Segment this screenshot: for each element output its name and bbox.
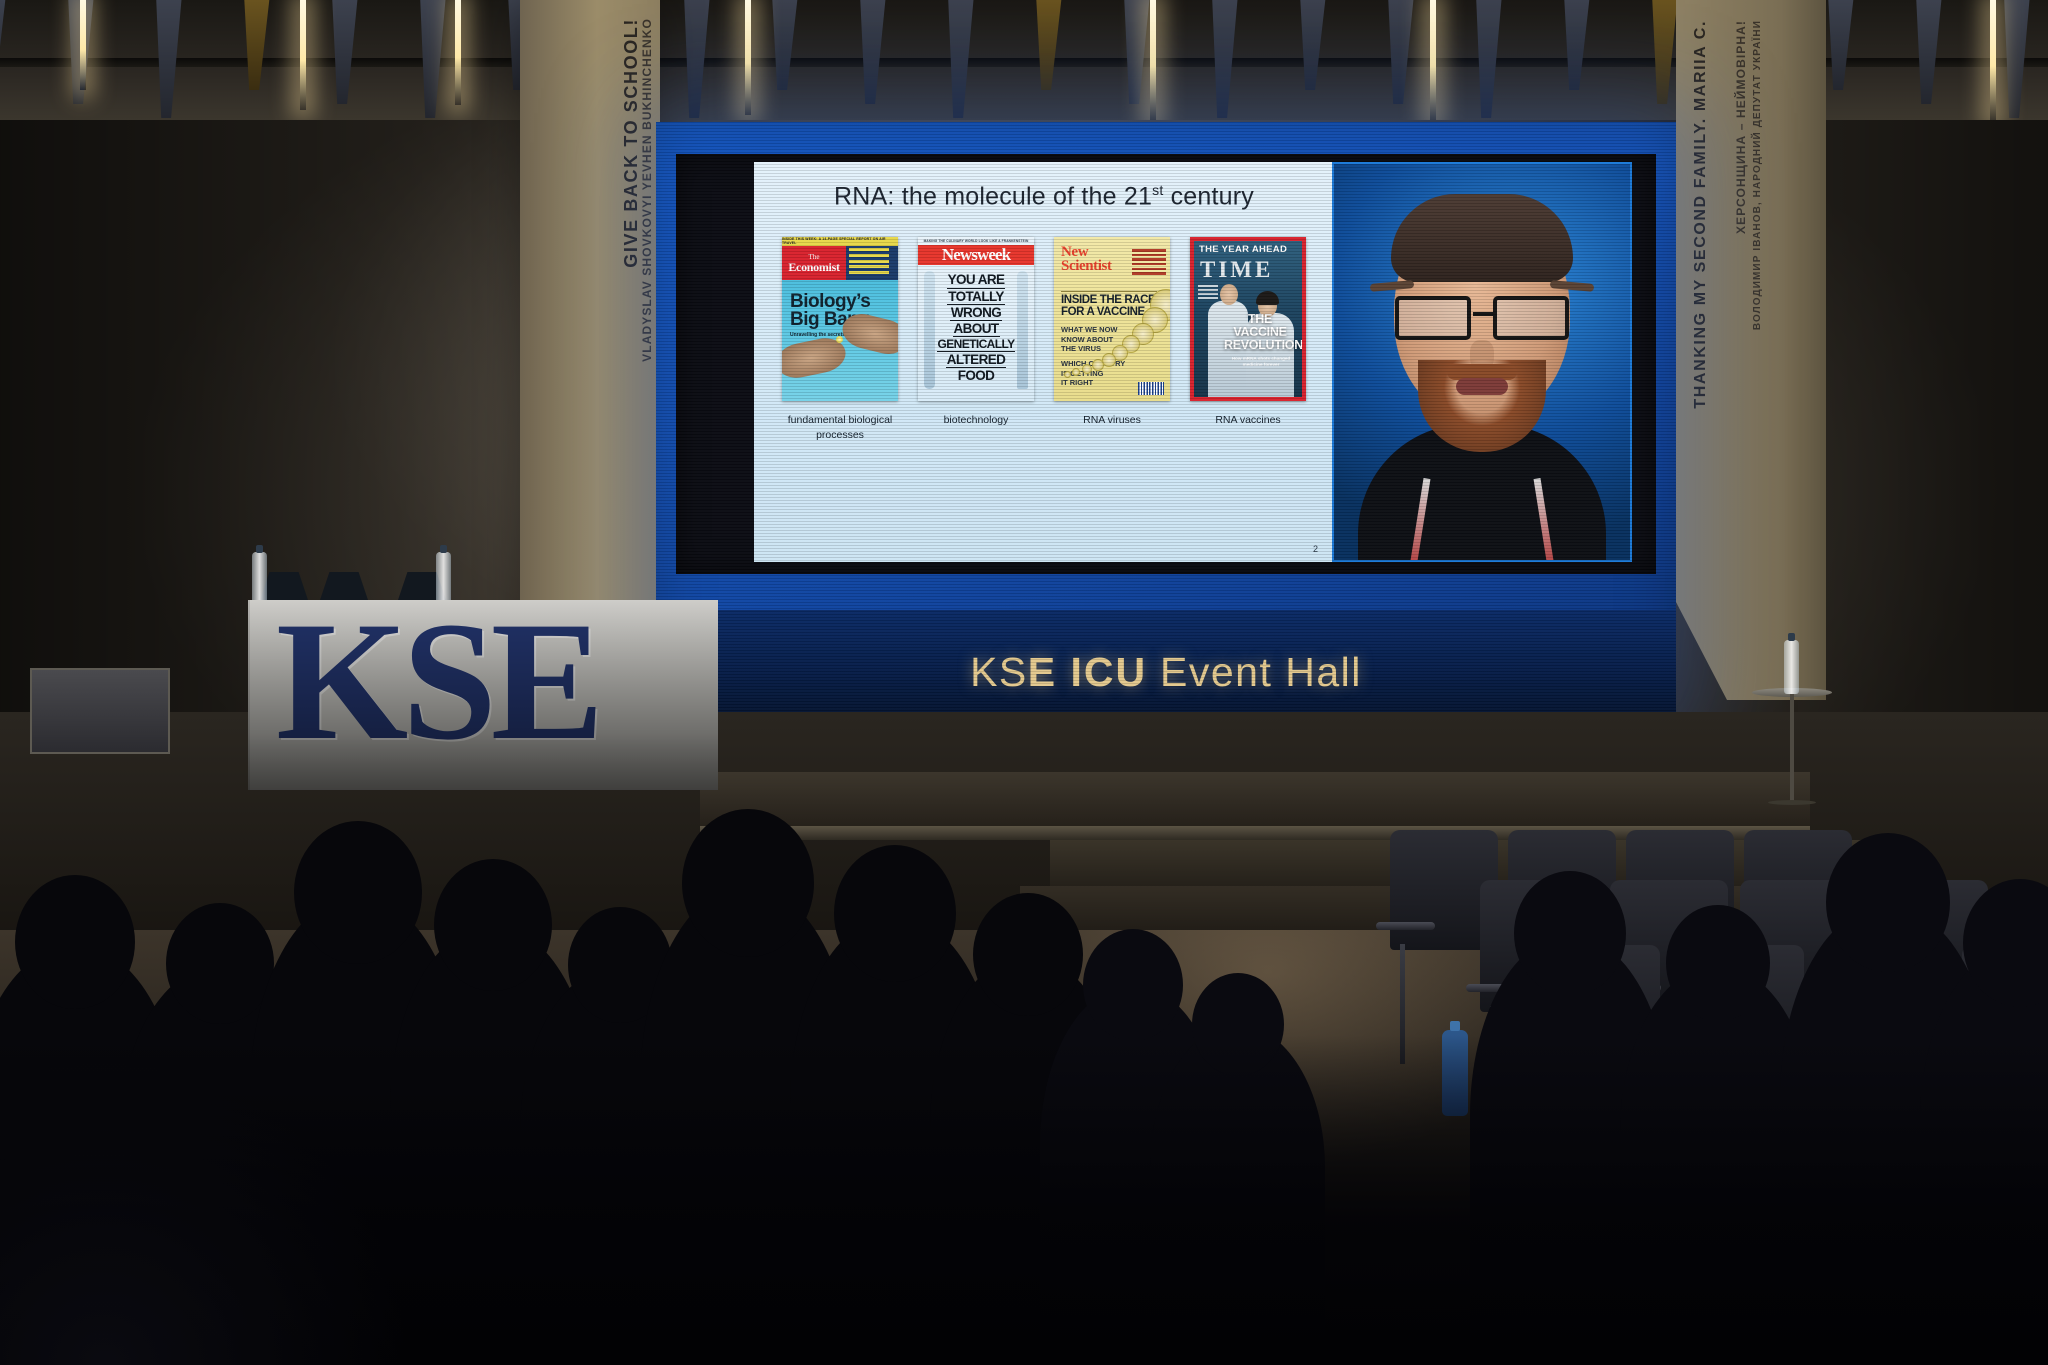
newsweek-headline-line: TOTALLY — [947, 290, 1005, 305]
audience-member-head — [973, 893, 1083, 1016]
hair-icon — [1391, 194, 1573, 282]
glasses-bridge — [1473, 312, 1493, 316]
economist-logo-name: Economist — [788, 261, 839, 273]
newsweek-kicker: MAKING THE CULINARY WORLD LOOK LIKE A FR… — [918, 237, 1034, 245]
chair-armrest — [1376, 922, 1435, 930]
ceiling-light-strip — [745, 0, 751, 115]
led-lower-band: KSE ICU Event Hall — [656, 610, 1676, 722]
economist-spark-icon — [836, 336, 843, 343]
audience-member-head — [682, 809, 814, 957]
time-teaser-list — [1198, 285, 1218, 301]
barcode-icon — [1138, 382, 1164, 395]
new-scientist-deck-line: KNOW ABOUT — [1061, 335, 1125, 344]
magazine-cover-newsweek: MAKING THE CULINARY WORLD LOOK LIKE A FR… — [918, 237, 1034, 401]
cover-caption: biotechnology — [918, 413, 1034, 441]
newsweek-headline-line: YOU ARE — [947, 273, 1006, 288]
foreground-darkness-left — [0, 845, 520, 1365]
water-bottle-side-table — [1784, 640, 1799, 694]
ceiling-baffle — [1828, 0, 1854, 90]
eyeglasses-icon — [1391, 296, 1573, 342]
hall-sign-bold: E ICU — [1028, 649, 1147, 695]
lecture-hall-scene: GIVE BACK TO SCHOOL! VLADYSLAV SHOVKOVYI… — [0, 0, 2048, 1365]
presentation-content-frame: RNA: the molecule of the 21st century IN… — [676, 154, 1656, 574]
wall-mirror-panel — [30, 668, 170, 754]
magazine-cover-row: INSIDE THIS WEEK: A 14-PAGE SPECIAL REPO… — [754, 211, 1334, 401]
new-scientist-headline: INSIDE THE RACEFOR A VACCINE — [1061, 295, 1155, 318]
led-video-wall[interactable]: RNA: the molecule of the 21st century IN… — [656, 122, 1676, 722]
wall-text-right-line1: THANKING MY SECOND FAMILY. MARIIA C. — [1692, 20, 1710, 409]
ceiling-light-strip — [1430, 0, 1436, 120]
magazine-cover-economist: INSIDE THIS WEEK: A 14-PAGE SPECIAL REPO… — [782, 237, 898, 401]
ceiling-baffle — [1388, 0, 1414, 104]
magazine-cover-time: THE YEAR AHEAD TIME THEVACCINEREVOLUTION… — [1190, 237, 1306, 401]
side-table-stem — [1790, 694, 1794, 804]
wall-text-left-line1: GIVE BACK TO SCHOOL! — [621, 18, 642, 268]
ceiling-baffle — [1916, 0, 1942, 104]
ceiling-light-strip — [1990, 0, 1996, 120]
scientist-hair-icon — [1256, 291, 1279, 305]
slide-title-tail: century — [1163, 182, 1254, 210]
wall-text-right-line2: ХЕРСОНЩИНА – НЕЙМОВІРНА! — [1734, 20, 1748, 234]
time-subhead: How mRNA shots changed medicine forever — [1228, 356, 1294, 370]
newsweek-logo: Newsweek — [918, 245, 1034, 265]
ceiling-light-strip — [455, 0, 461, 105]
water-bottle-podium-left — [252, 552, 267, 606]
kse-podium: KSE — [248, 600, 718, 790]
cover-caption: RNA vaccines — [1190, 413, 1306, 441]
ceiling-baffle — [1124, 0, 1150, 104]
new-scientist-logo-line2: Scientist — [1061, 258, 1112, 274]
ceiling-baffle — [0, 0, 6, 90]
video-call-feed[interactable] — [1332, 162, 1632, 562]
new-scientist-deck-line: IT RIGHT — [1061, 378, 1125, 387]
audience-member-head — [1826, 833, 1950, 972]
audience-member-head — [1666, 905, 1770, 1021]
economist-teaser-list — [846, 246, 898, 280]
water-bottle-podium-right — [436, 552, 451, 606]
magazine-cover-new-scientist: New Scientist INSIDE THE RACEFOR A VACCI… — [1054, 237, 1170, 401]
time-kicker: THE YEAR AHEAD — [1199, 245, 1297, 255]
presentation-slide: RNA: the molecule of the 21st century IN… — [754, 162, 1334, 562]
wall-text-left-line2: VLADYSLAV SHOVKOVYI YEVHEN BUKHINCHENKO — [640, 18, 654, 362]
ceiling-baffle — [772, 0, 798, 90]
newsweek-headline-line: GENETICALLY — [937, 338, 1016, 352]
new-scientist-teaser-list — [1132, 249, 1166, 276]
ceiling-baffle — [1652, 0, 1678, 104]
ceiling-baffle — [332, 0, 358, 104]
ceiling-light-strip — [80, 0, 86, 90]
ceiling-baffle — [1564, 0, 1590, 90]
new-scientist-deck-line: WHAT WE NOW — [1061, 325, 1125, 334]
slide-title-ordinal: st — [1152, 182, 1163, 198]
side-table-base — [1768, 800, 1816, 805]
hall-sign-suffix: Event Hall — [1147, 649, 1362, 695]
cover-caption-row: fundamental biological processesbiotechn… — [754, 401, 1334, 441]
wall-panel-left: GIVE BACK TO SCHOOL! VLADYSLAV SHOVKOVYI… — [520, 0, 660, 640]
wall-panel-right: THANKING MY SECOND FAMILY. MARIIA C. ХЕР… — [1676, 0, 1826, 700]
economist-logo: The Economist — [782, 246, 846, 280]
time-logo: TIME — [1200, 258, 1273, 281]
cover-caption: RNA viruses — [1054, 413, 1170, 441]
hall-name-sign: KSE ICU Event Hall — [656, 649, 1676, 696]
collar-right — [1534, 478, 1556, 562]
slide-title: RNA: the molecule of the 21st century — [754, 182, 1334, 211]
audience-member-head — [1514, 871, 1626, 996]
audience-member-head — [1083, 929, 1183, 1041]
newsweek-headline-line: ABOUT — [953, 322, 1000, 337]
stage-front-face — [700, 772, 1810, 830]
economist-kicker: INSIDE THIS WEEK: A 14-PAGE SPECIAL REPO… — [782, 237, 898, 246]
newsweek-headline-line: FOOD — [957, 369, 996, 383]
ceiling-baffle — [244, 0, 270, 90]
time-headline: THEVACCINEREVOLUTION — [1224, 313, 1296, 351]
ceiling-baffle — [860, 0, 886, 104]
hall-sign-prefix: KS — [970, 649, 1028, 695]
ceiling-baffle — [1300, 0, 1326, 90]
audience-member-head — [834, 845, 956, 982]
new-scientist-rule — [1061, 291, 1157, 292]
collar-left — [1409, 478, 1431, 562]
ceiling-light-strip — [300, 0, 306, 110]
podium-shading — [248, 600, 718, 790]
lens-left — [1395, 296, 1471, 340]
economist-hand-right-icon — [839, 310, 898, 359]
slide-title-main: RNA: the molecule of the 21 — [834, 182, 1152, 210]
wall-text-right-line3: ВОЛОДИМИР ІВАНОВ, НАРОДНИЙ ДЕПУТАТ УКРАЇ… — [1752, 20, 1763, 330]
newsweek-headline: YOU ARETOTALLYWRONGABOUTGENETICALLYALTER… — [918, 273, 1034, 383]
cover-caption: fundamental biological processes — [782, 413, 898, 441]
ceiling-light-strip — [1150, 0, 1156, 120]
time-photo: THE YEAR AHEAD TIME THEVACCINEREVOLUTION… — [1194, 241, 1302, 397]
newsweek-headline-line: ALTERED — [946, 353, 1007, 368]
slide-page-number: 2 — [1313, 544, 1318, 554]
lens-right — [1493, 296, 1569, 340]
ceiling-baffle — [1036, 0, 1062, 90]
newsweek-headline-line: WRONG — [950, 306, 1002, 321]
mouth — [1456, 378, 1508, 395]
